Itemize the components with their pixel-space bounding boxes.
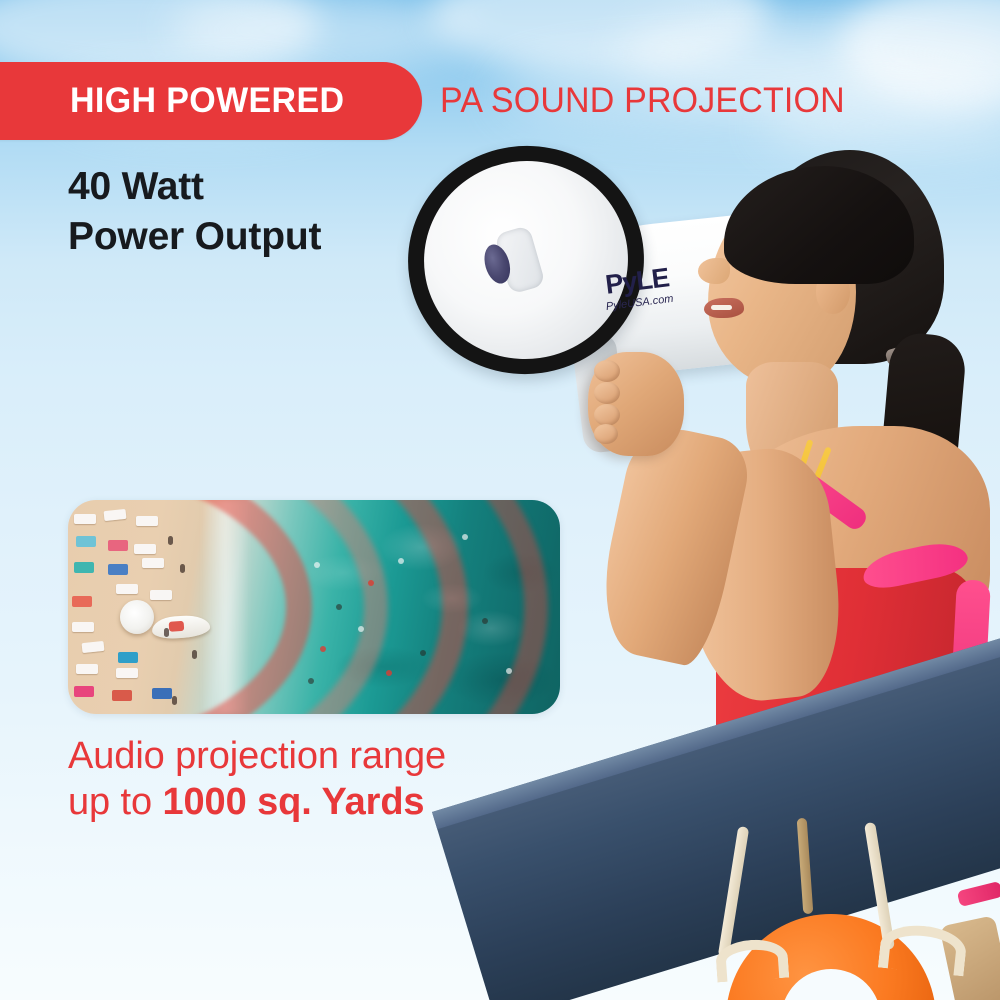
beach-towel [112,690,132,701]
beach-towel [118,652,138,663]
beach-lounger [142,558,164,568]
knuckle [594,382,620,404]
caption-line-2: up to 1000 sq. Yards [68,779,446,825]
knuckle [594,424,618,444]
beach-lounger [116,584,138,594]
knuckle [594,360,620,382]
beach-towel [152,688,172,699]
badge-label: HIGH POWERED [70,81,344,121]
beach-lounger [74,514,96,524]
beach-towel [74,562,94,573]
header-banner: HIGH POWERED PA SOUND PROJECTION [0,62,1000,140]
range-caption: Audio projection range up to 1000 sq. Ya… [68,733,446,826]
swimmer [308,678,314,684]
mouth [704,298,744,318]
beach-towel [108,564,128,575]
beachgoer [168,536,173,545]
beach-towel [76,536,96,547]
swimmer [314,562,320,568]
high-powered-badge: HIGH POWERED [0,62,422,140]
cloud-wisp [170,0,470,70]
beach-lounger [116,668,138,678]
swimmer [506,668,512,674]
caption-highlight: 1000 sq. Yards [162,781,424,823]
beach-towel [108,540,128,551]
swimmer [482,618,488,624]
spec-line-1: 40 Watt [68,162,321,212]
beach-umbrella [120,600,154,634]
horn-inner-cone [411,148,641,372]
beach-lounger [134,544,156,554]
beach-lounger [104,509,127,521]
nose [698,258,730,284]
swimmer [336,604,342,610]
swimmer [358,626,364,632]
beach-sound-range-inset [68,500,560,714]
beach-towel [74,686,94,697]
beach-objects-group [68,500,230,714]
swimmer [368,580,374,586]
beach-lounger [150,590,172,600]
beach-boat [151,614,210,640]
beach-lounger [72,622,94,632]
caption-prefix: up to [68,781,162,823]
fist-gripping-handle [588,352,684,456]
swimmer [462,534,468,540]
header-subtitle: PA SOUND PROJECTION [440,62,845,140]
swimmer [420,650,426,656]
beachgoer [172,696,177,705]
beachgoer [164,628,169,637]
swimmer [398,558,404,564]
beachgoer [180,564,185,573]
spec-line-2: Power Output [68,212,321,262]
beach-lounger [136,516,158,526]
beach-lounger [76,664,98,674]
beachgoer [192,650,197,659]
caption-line-1: Audio projection range [68,733,446,779]
beach-towel [72,596,92,607]
beach-lounger [82,641,105,653]
swimmer [320,646,326,652]
power-spec-block: 40 Watt Power Output [68,162,321,262]
swimmer [386,670,392,676]
product-feature-card: PyLE PyleUSA.com HIGH POWERED PA SOUND P… [0,0,1000,1000]
knuckle [594,404,620,426]
